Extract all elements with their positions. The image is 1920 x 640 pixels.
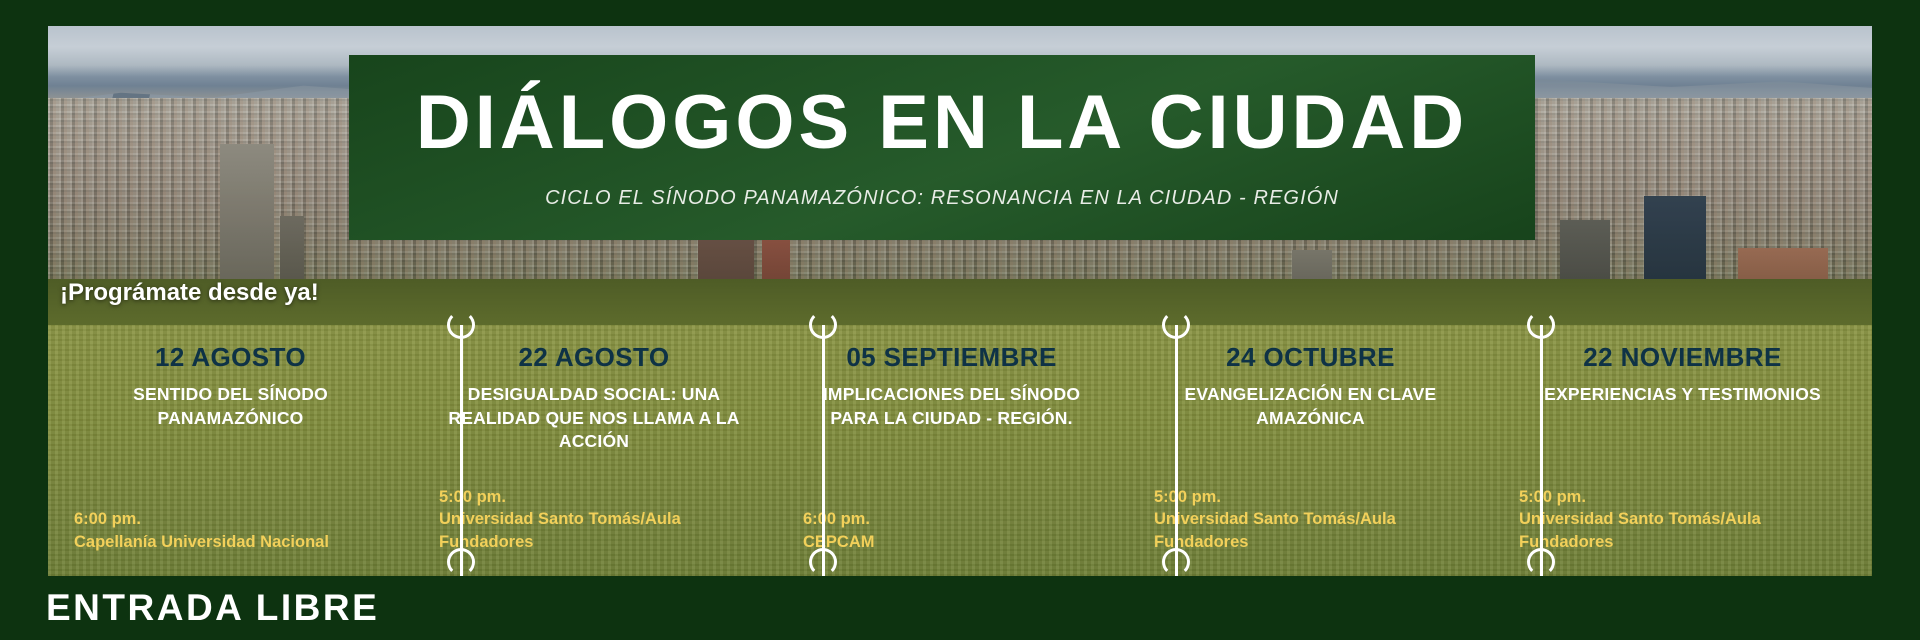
- event-column-3[interactable]: 05 SEPTIEMBRE IMPLICACIONES DEL SÍNODO P…: [775, 325, 1128, 576]
- event-time: 5:00 pm.: [1154, 486, 1479, 509]
- event-details: 5:00 pm. Universidad Santo Tomás/Aula Fu…: [1142, 486, 1479, 554]
- cta-text: ¡Prográmate desde ya!: [48, 279, 319, 307]
- event-details: 5:00 pm. Universidad Santo Tomás/Aula Fu…: [427, 486, 761, 554]
- events-columns: 12 AGOSTO SENTIDO DEL SÍNODO PANAMAZÓNIC…: [48, 325, 1872, 576]
- event-title: IMPLICACIONES DEL SÍNODO PARA LA CIUDAD …: [789, 383, 1114, 430]
- event-date: 22 NOVIEMBRE: [1507, 343, 1858, 373]
- event-column-4[interactable]: 24 OCTUBRE EVANGELIZACIÓN EN CLAVE AMAZÓ…: [1128, 325, 1493, 576]
- page-title: DIÁLOGOS EN LA CIUDAD: [416, 85, 1468, 161]
- event-title: EVANGELIZACIÓN EN CLAVE AMAZÓNICA: [1142, 383, 1479, 430]
- event-details: 6:00 pm. Capellanía Universidad Nacional: [62, 508, 399, 554]
- event-time: 6:00 pm.: [803, 508, 1114, 531]
- event-title: SENTIDO DEL SÍNODO PANAMAZÓNICO: [62, 383, 399, 430]
- title-panel: DIÁLOGOS EN LA CIUDAD CICLO EL SÍNODO PA…: [349, 55, 1535, 240]
- event-time: 5:00 pm.: [439, 486, 761, 509]
- event-title: EXPERIENCIAS Y TESTIMONIOS: [1507, 383, 1858, 407]
- event-title: DESIGUALDAD SOCIAL: UNA REALIDAD QUE NOS…: [427, 383, 761, 454]
- event-date: 12 AGOSTO: [62, 343, 399, 373]
- event-venue: Universidad Santo Tomás/Aula Fundadores: [439, 508, 761, 554]
- event-date: 22 AGOSTO: [427, 343, 761, 373]
- footer-text: ENTRADA LIBRE: [0, 587, 379, 629]
- poster-root: DIÁLOGOS EN LA CIUDAD CICLO EL SÍNODO PA…: [0, 0, 1920, 640]
- cta-strip: ¡Prográmate desde ya!: [48, 273, 1872, 313]
- event-venue: CEPCAM: [803, 531, 1114, 554]
- event-details: 5:00 pm. Universidad Santo Tomás/Aula Fu…: [1507, 486, 1858, 554]
- event-column-2[interactable]: 22 AGOSTO DESIGUALDAD SOCIAL: UNA REALID…: [413, 325, 775, 576]
- event-date: 05 SEPTIEMBRE: [789, 343, 1114, 373]
- event-time: 6:00 pm.: [74, 508, 399, 531]
- event-column-5[interactable]: 22 NOVIEMBRE EXPERIENCIAS Y TESTIMONIOS …: [1493, 325, 1872, 576]
- event-venue: Universidad Santo Tomás/Aula Fundadores: [1154, 508, 1479, 554]
- event-column-1[interactable]: 12 AGOSTO SENTIDO DEL SÍNODO PANAMAZÓNIC…: [48, 325, 413, 576]
- events-timeline: 12 AGOSTO SENTIDO DEL SÍNODO PANAMAZÓNIC…: [48, 325, 1872, 576]
- event-details: 6:00 pm. CEPCAM: [789, 508, 1114, 554]
- event-time: 5:00 pm.: [1519, 486, 1858, 509]
- event-date: 24 OCTUBRE: [1142, 343, 1479, 373]
- footer-bar: ENTRADA LIBRE: [0, 576, 1920, 640]
- event-venue: Capellanía Universidad Nacional: [74, 531, 399, 554]
- page-subtitle: CICLO EL SÍNODO PANAMAZÓNICO: RESONANCIA…: [545, 187, 1339, 210]
- event-venue: Universidad Santo Tomás/Aula Fundadores: [1519, 508, 1858, 554]
